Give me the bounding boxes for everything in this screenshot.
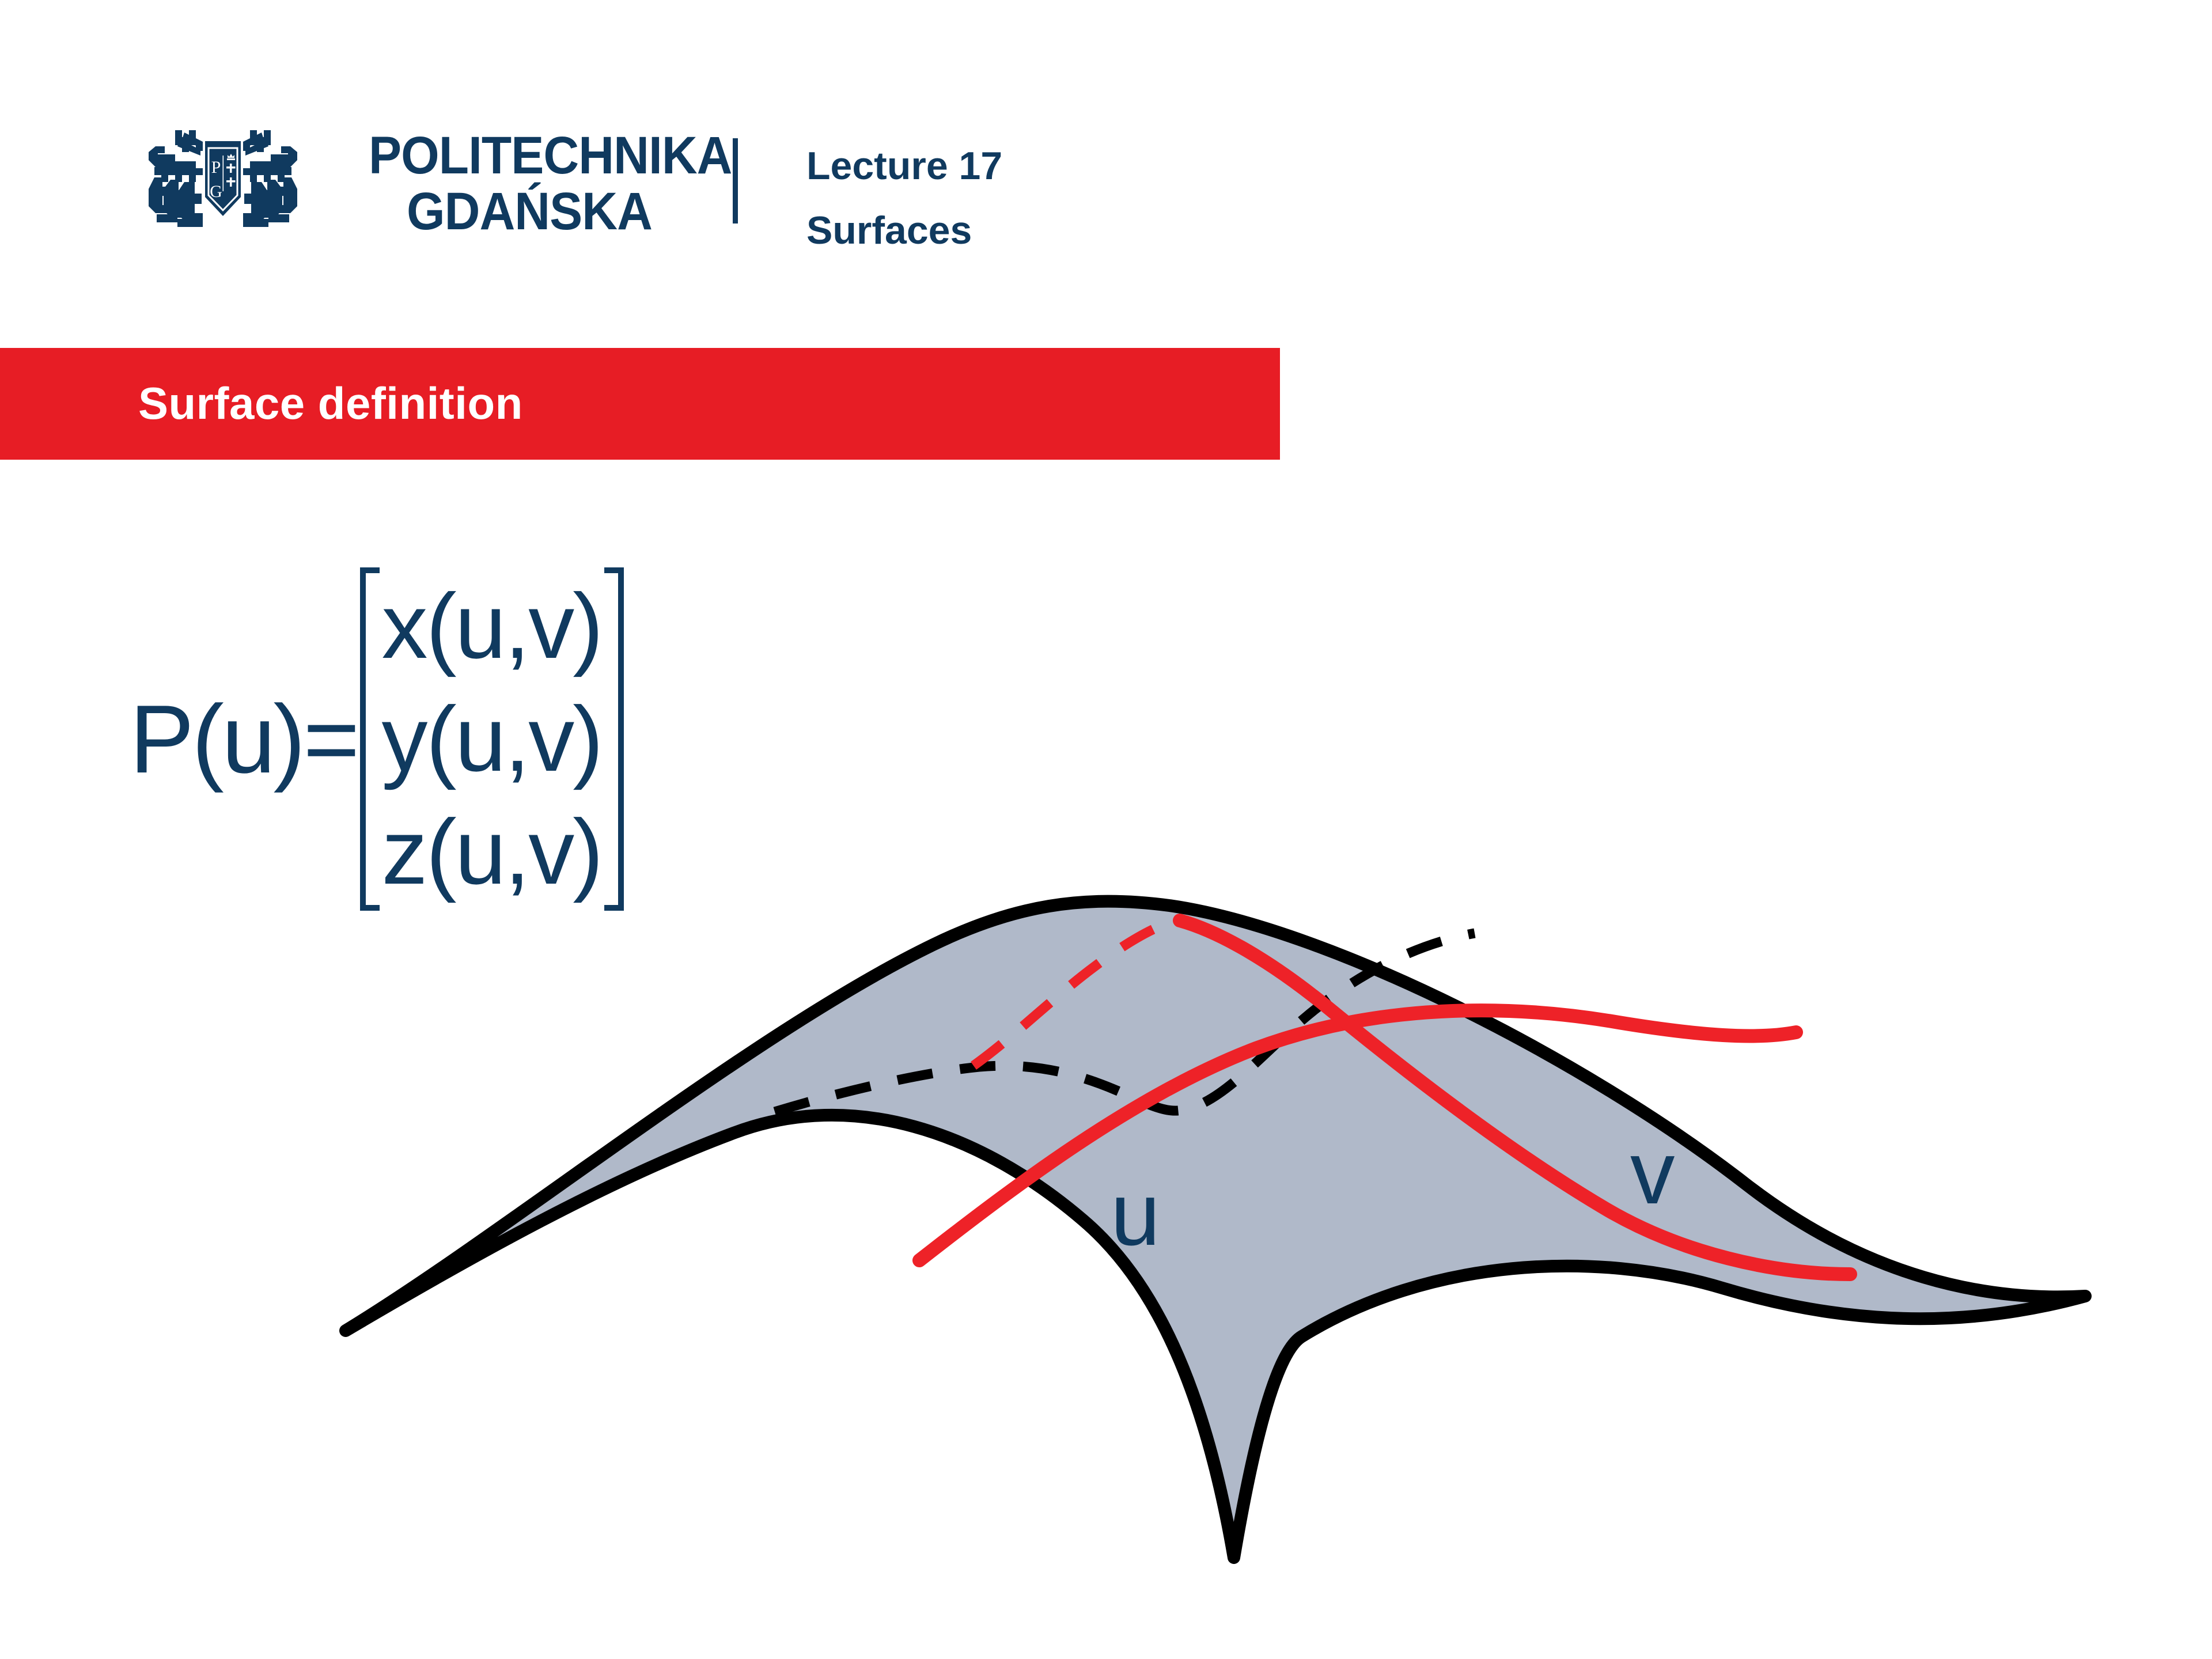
surface-patch	[346, 902, 2085, 1558]
lecture-topic: Surfaces	[806, 198, 1002, 263]
v-parametric-curve	[1180, 921, 1850, 1274]
matrix-bracket-left	[360, 567, 380, 911]
column-matrix: x(u,v) y(u,v) z(u,v)	[360, 567, 624, 911]
lecture-number: Lecture 17	[806, 134, 1002, 198]
logo-wordmark-line2: GDAŃSKA	[369, 184, 690, 240]
matrix-rows: x(u,v) y(u,v) z(u,v)	[380, 567, 604, 911]
hidden-back-edge-dashed	[775, 933, 1475, 1112]
formula-left-hand-side: P(u)=	[130, 691, 358, 787]
section-title: Surface definition	[138, 377, 523, 430]
matrix-row-y: y(u,v)	[382, 683, 602, 796]
surface-parametric-formula: P(u)= x(u,v) y(u,v) z(u,v)	[130, 567, 624, 911]
v-parameter-label: v	[1630, 1128, 1675, 1217]
lecture-info: Lecture 17 Surfaces	[806, 134, 1002, 263]
u-parameter-label: u	[1111, 1169, 1160, 1259]
header-divider	[733, 138, 738, 224]
svg-text:P: P	[211, 158, 221, 177]
matrix-row-x: x(u,v)	[382, 570, 602, 683]
u-parametric-curve	[919, 1010, 1796, 1260]
logo-wordmark: POLITECHNIKA GDAŃSKA	[369, 128, 690, 240]
logo-wordmark-line1: POLITECHNIKA	[369, 128, 690, 184]
pg-crest-logo: P G	[122, 122, 324, 255]
svg-text:G: G	[210, 182, 222, 201]
matrix-bracket-right	[604, 567, 624, 911]
u-curve-hidden-dashed	[974, 921, 1175, 1066]
matrix-row-z: z(u,v)	[382, 796, 602, 908]
slide-header: P G POLITECHNIKA GDAŃSKA Lecture 17	[0, 0, 2212, 300]
section-title-banner: Surface definition	[0, 348, 1280, 460]
